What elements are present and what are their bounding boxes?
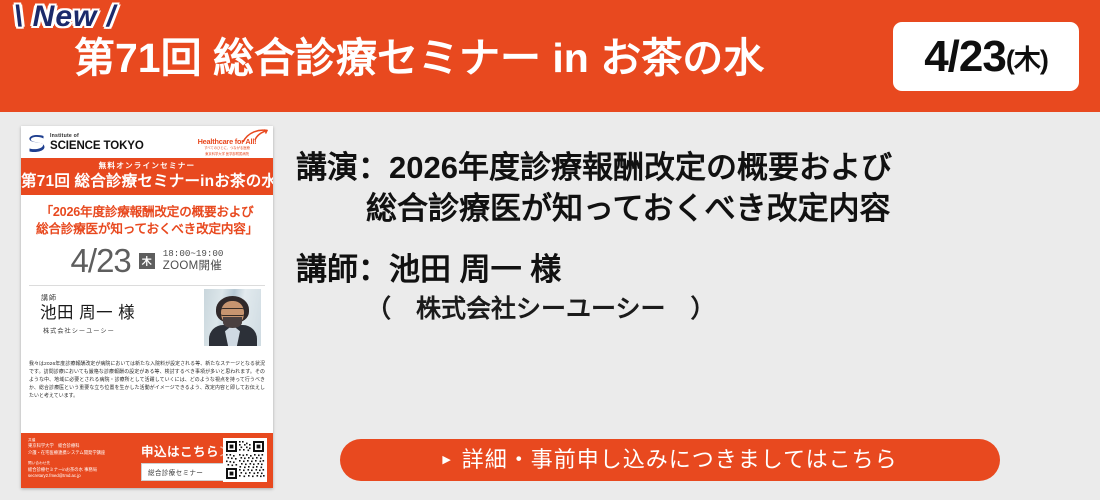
poster-band-subtitle: 無料オンラインセミナー: [21, 162, 273, 170]
healthcare-for-all-logo: Healthcare for All! すべてのひとに、つながる医療 東京科学大…: [186, 131, 268, 157]
hfa-sub-1: すべてのひとに、つながる医療: [186, 146, 268, 150]
logo-institute-prefix: Institute of: [50, 133, 79, 139]
logo-institute-name: SCIENCE TOKYO: [50, 140, 144, 152]
poster-theme-line2: 総合診療医が知っておくべき改定内容」: [24, 221, 270, 238]
speaker-affiliation-line: （ 株式会社シーユーシー ）: [296, 295, 1086, 325]
speaker-portrait-photo: [204, 289, 261, 346]
hfa-sub-2: 東京科学大学 医学部附属病院: [186, 152, 268, 156]
swoosh-icon: [242, 129, 268, 145]
seminar-details: 講演：2026年度診療報酬改定の概要および 総合診療医が知っておくべき改定内容 …: [296, 150, 1086, 324]
date-badge-text: 4/23(木): [924, 35, 1048, 79]
poster-band-title: 第71回 総合診療セミナーinお茶の水: [21, 174, 273, 190]
poster-dow-badge: 木: [139, 253, 155, 269]
poster-platform: ZOOM開催: [163, 259, 224, 273]
page-root: \ New / 第71回 総合診療セミナー in お茶の水 4/23(木) In…: [0, 0, 1100, 500]
poster-speaker-block: 講師 池田 周一 様 株式会社シーユーシー: [29, 285, 265, 355]
poster-description: 我々は2026年度診療報酬改定が病院においては新たな入院料が設定される等、新たな…: [29, 361, 265, 401]
header-banner: \ New / 第71回 総合診療セミナー in お茶の水 4/23(木): [0, 0, 1100, 112]
poster-footer: 共催 東京科学大学 総合診療科 介護・在宅医療連携システム開発学講座 問い合わせ…: [21, 433, 273, 488]
contact-block: 問い合わせ先 総合診療セミナーinお茶の水 事務局 secretary2.fme…: [28, 461, 133, 479]
portrait-glasses: [220, 308, 245, 316]
kyosai-line-2: 介護・在宅医療連携システム開発学講座: [28, 450, 133, 456]
poster-theme: 「2026年度診療報酬改定の概要および 総合診療医が知っておくべき改定内容」: [21, 195, 273, 242]
contact-email: secretary2.fmed@tmd.ac.jp: [28, 473, 133, 479]
lecture-title-line-2: 総合診療医が知っておくべき改定内容: [296, 191, 1086, 228]
details-and-registration-button[interactable]: ▶ 詳細・事前申し込みにつきましてはこちら: [340, 439, 1000, 481]
poster-time: 18:00~19:00: [163, 248, 224, 260]
triangle-right-icon: ▶: [442, 455, 450, 466]
poster-logo-bar: Institute of SCIENCE TOKYO Healthcare fo…: [21, 126, 273, 158]
poster-schedule: 4/23 木 18:00~19:00 ZOOM開催: [21, 242, 273, 285]
poster-schedule-detail: 18:00~19:00 ZOOM開催: [163, 248, 224, 274]
qr-code-icon: [225, 440, 265, 480]
poster-search-input[interactable]: 総合診療セミナー: [141, 463, 226, 481]
date-badge: 4/23(木): [893, 22, 1079, 91]
poster-title-band: 無料オンラインセミナー 第71回 総合診療セミナーinお茶の水: [21, 158, 273, 195]
poster-date: 4/23: [71, 244, 131, 277]
cta-label: 詳細・事前申し込みにつきましてはこちら: [462, 449, 898, 471]
date-badge-dow: (木): [1006, 45, 1048, 75]
seminar-poster-thumbnail[interactable]: Institute of SCIENCE TOKYO Healthcare fo…: [21, 126, 273, 488]
poster-search-value: 総合診療セミナー: [142, 467, 203, 477]
page-title: 第71回 総合診療セミナー in お茶の水: [74, 38, 764, 79]
new-badge: \ New /: [14, 2, 116, 32]
lecture-title-line-1: 講演：2026年度診療報酬改定の概要および: [296, 150, 1086, 187]
date-badge-main: 4/23: [924, 32, 1006, 81]
speaker-name-line: 講師：池田 周一 様: [296, 252, 1086, 289]
apply-text: 申込はこちら: [141, 445, 219, 459]
poster-theme-line1: 「2026年度診療報酬改定の概要および: [24, 204, 270, 221]
poster-qr-code: [223, 438, 267, 482]
poster-footer-info: 共催 東京科学大学 総合診療科 介護・在宅医療連携システム開発学講座 問い合わせ…: [28, 438, 133, 480]
science-tokyo-logo-icon: [28, 134, 45, 152]
